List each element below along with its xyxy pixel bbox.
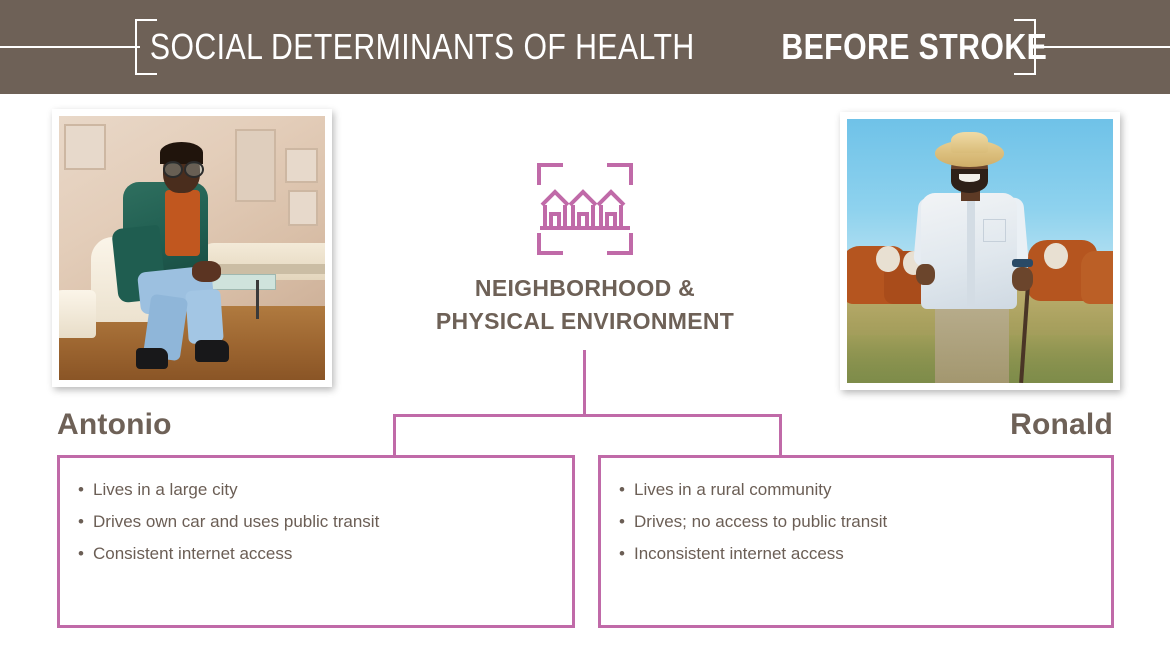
photo-wall-art (288, 190, 319, 226)
photo-person-glasses (184, 161, 204, 178)
connector-stem (583, 350, 586, 416)
photo-table-leg (256, 280, 259, 320)
page-title-bold: BEFORE STROKE (781, 26, 1047, 68)
photo-ronald (847, 119, 1113, 383)
photo-person-boot (195, 340, 230, 361)
photo-chair (59, 290, 96, 338)
icon-corner-bottom-left (537, 233, 563, 255)
list-item: Drives own car and uses public transit (78, 506, 554, 538)
photo-bench-base (219, 264, 325, 275)
icon-corner-top-right (607, 163, 633, 185)
page-title: SOCIAL DETERMINANTS OF HEALTH BEFORE STR… (0, 0, 1170, 94)
photo-cow-face (1044, 243, 1068, 269)
list-item: Consistent internet access (78, 538, 554, 570)
bullet-list-ronald: Lives in a rural community Drives; no ac… (619, 474, 1093, 570)
photo-wall-art (285, 148, 318, 184)
details-box-ronald: Lives in a rural community Drives; no ac… (598, 455, 1114, 628)
page-title-light: SOCIAL DETERMINANTS OF HEALTH (150, 26, 695, 68)
photo-card-ronald (840, 112, 1120, 390)
bullet-list-antonio: Lives in a large city Drives own car and… (78, 474, 554, 570)
photo-person-pants (935, 299, 1009, 383)
photo-wall-art (235, 129, 276, 202)
category-label-line1: NEIGHBORHOOD & (360, 272, 810, 305)
photo-person-shirt-placket (967, 196, 975, 307)
photo-person-shirt-pocket (983, 219, 1006, 242)
list-item: Inconsistent internet access (619, 538, 1093, 570)
category-label-line2: PHYSICAL ENVIRONMENT (360, 305, 810, 338)
photo-person-hat-crown (951, 132, 988, 153)
neighborhood-houses-icon (537, 163, 633, 255)
icon-corner-top-left (537, 163, 563, 185)
photo-person-jeans (185, 289, 223, 344)
photo-person-boot (136, 348, 168, 369)
photo-antonio (59, 116, 325, 380)
list-item: Drives; no access to public transit (619, 506, 1093, 538)
person-name-ronald: Ronald (1010, 408, 1113, 442)
photo-person-hands (192, 261, 221, 282)
details-box-antonio: Lives in a large city Drives own car and… (57, 455, 575, 628)
photo-cow (1081, 251, 1113, 304)
houses-glyph (540, 185, 630, 235)
photo-person-watch (1012, 259, 1033, 267)
person-name-antonio: Antonio (57, 408, 172, 442)
list-item: Lives in a rural community (619, 474, 1093, 506)
category-label: NEIGHBORHOOD & PHYSICAL ENVIRONMENT (360, 272, 810, 338)
photo-person-glasses (163, 161, 183, 178)
list-item: Lives in a large city (78, 474, 554, 506)
connector-branch-right (779, 414, 782, 457)
photo-person-shirt (165, 190, 200, 256)
photo-person-hand (1012, 267, 1033, 291)
connector-horizontal (393, 414, 782, 417)
photo-person-hand (916, 264, 935, 285)
photo-wall-art (64, 124, 105, 170)
header-bar: SOCIAL DETERMINANTS OF HEALTH BEFORE STR… (0, 0, 1170, 94)
connector-branch-left (393, 414, 396, 457)
icon-corner-bottom-right (607, 233, 633, 255)
photo-card-antonio (52, 109, 332, 387)
